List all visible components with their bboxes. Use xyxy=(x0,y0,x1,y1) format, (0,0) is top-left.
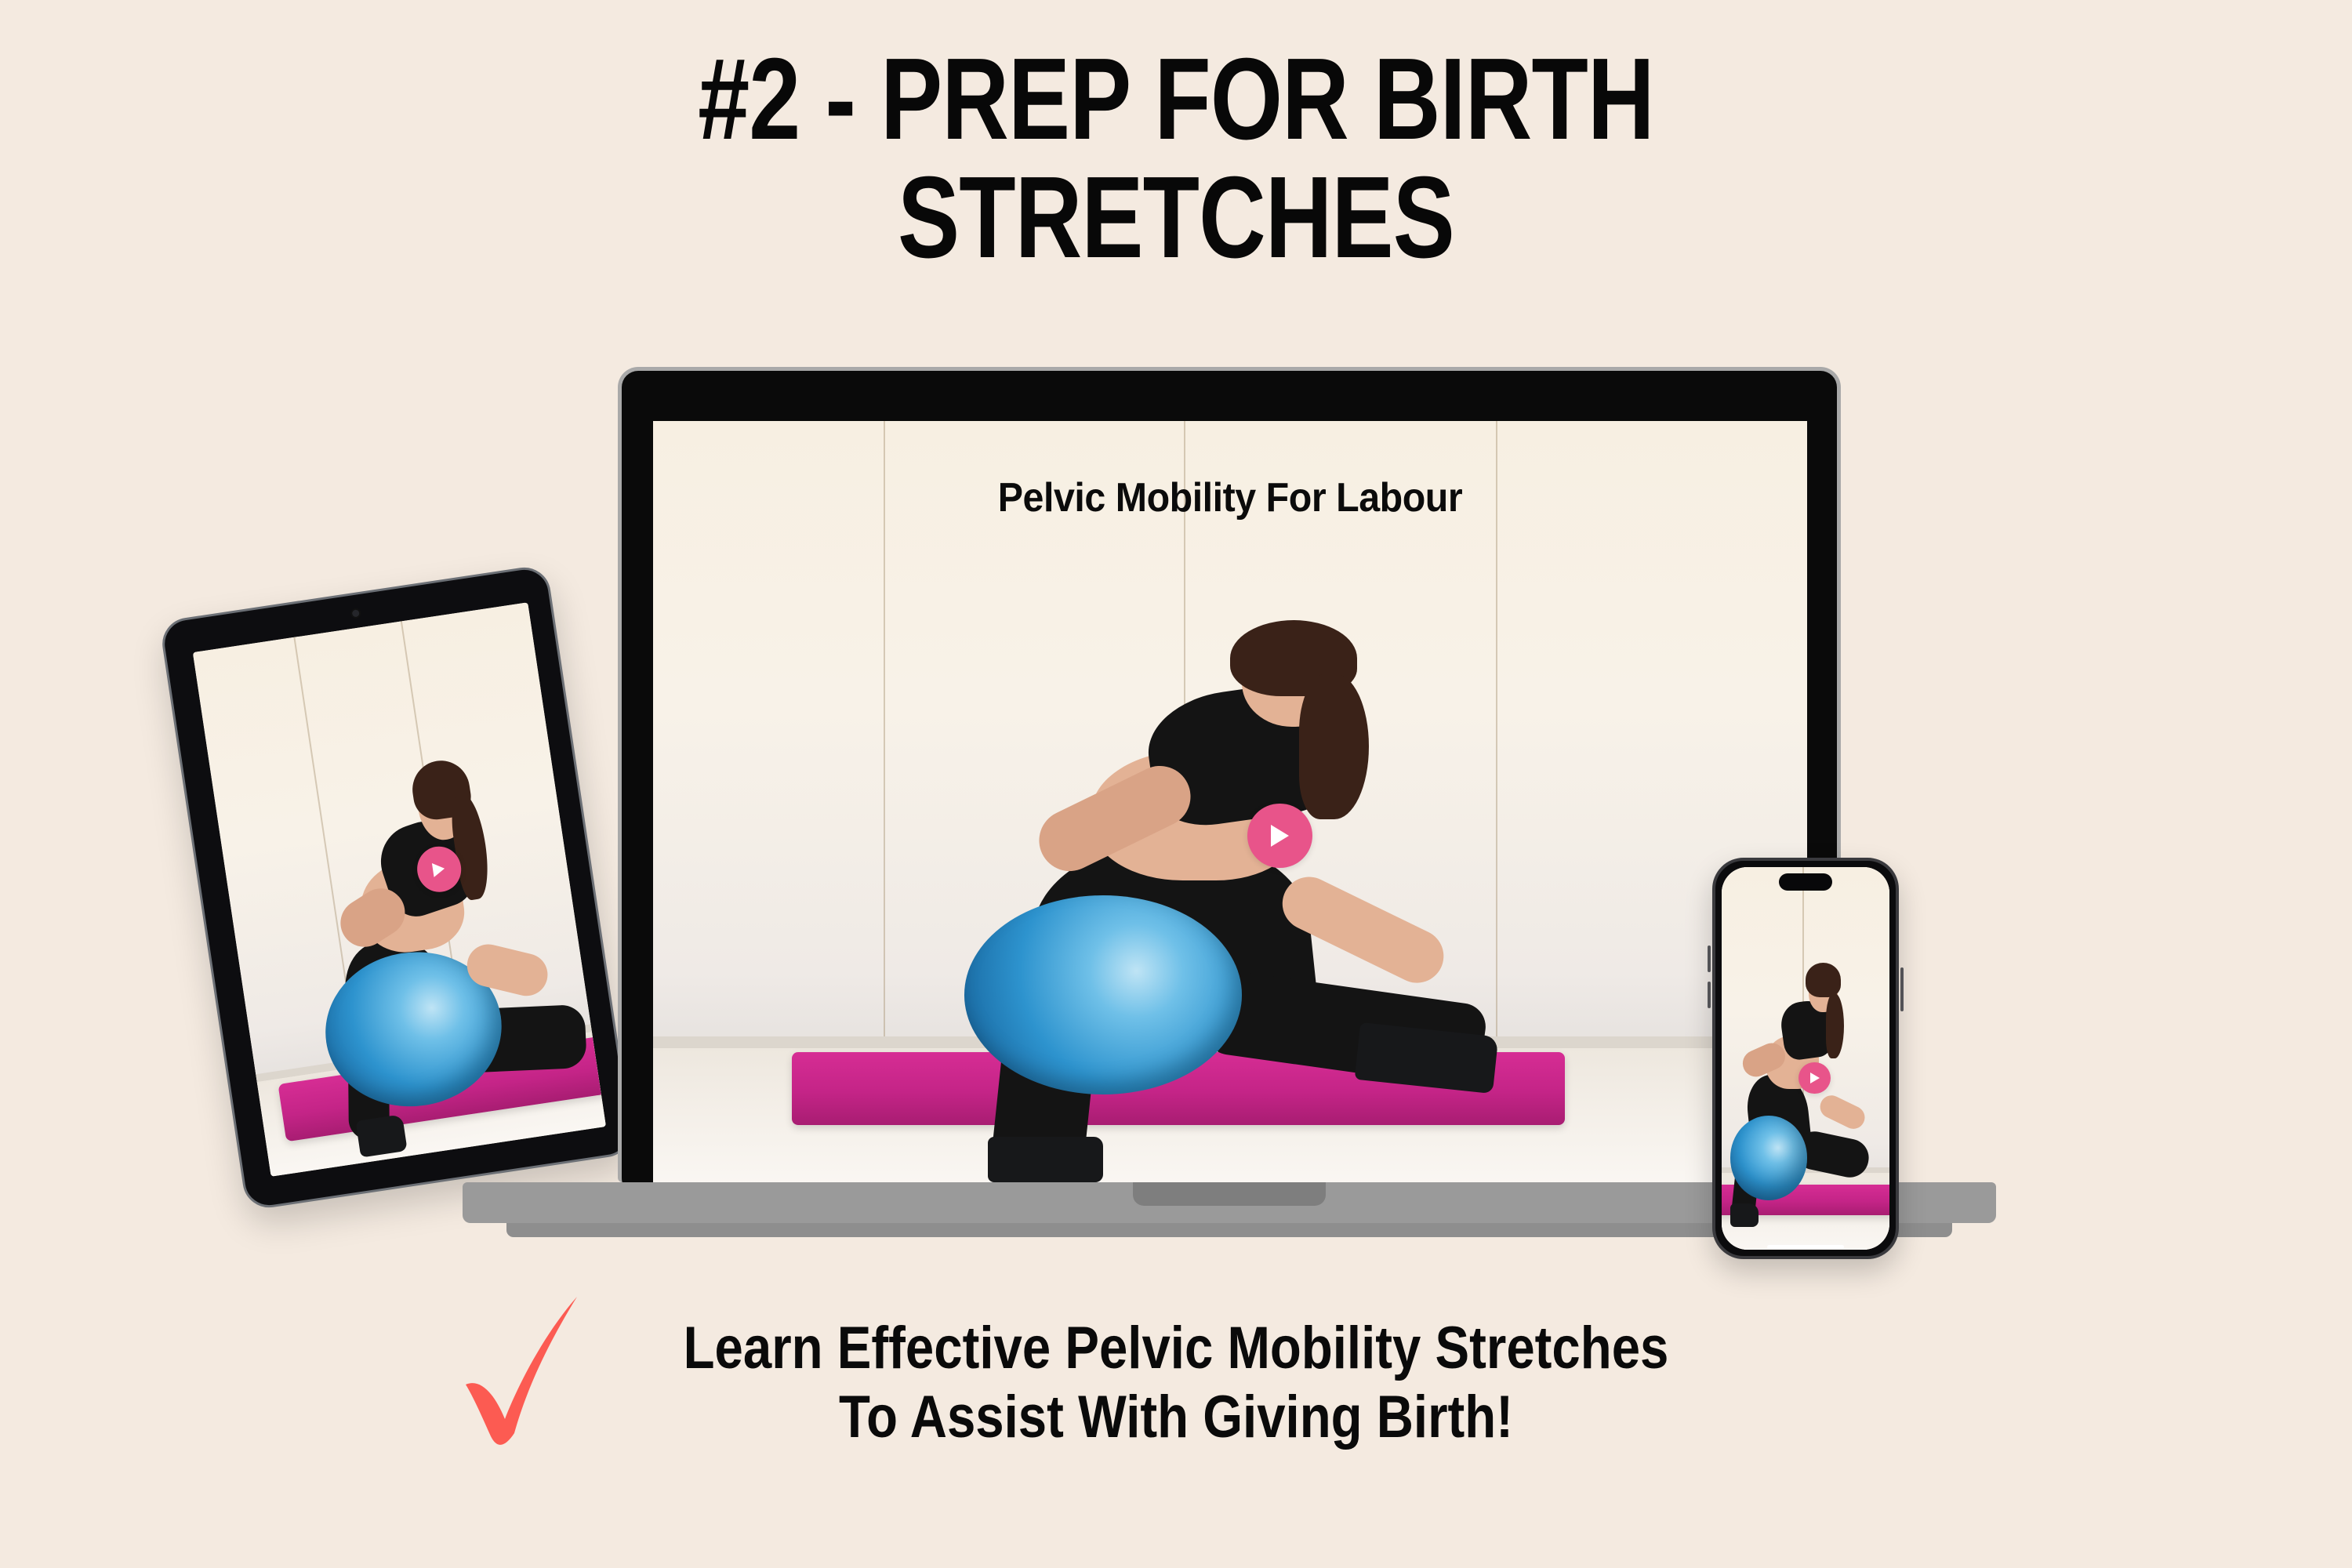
tablet-screen[interactable] xyxy=(193,602,606,1176)
exercise-ball xyxy=(964,895,1241,1094)
laptop-device[interactable]: Pelvic Mobility For Labour xyxy=(618,367,1841,1229)
play-button[interactable] xyxy=(1247,804,1312,868)
poster-canvas: #2 - PREP FOR BIRTH STRETCHES xyxy=(0,0,2352,1568)
phone-volume-up-button[interactable] xyxy=(1708,946,1711,972)
shoe-left xyxy=(988,1137,1103,1182)
phone-home-indicator xyxy=(1767,1245,1844,1249)
play-triangle-icon xyxy=(432,861,445,877)
phone-screen[interactable] xyxy=(1722,867,1889,1250)
video-title: Pelvic Mobility For Labour xyxy=(694,474,1767,521)
laptop-base-notch xyxy=(1133,1182,1326,1206)
hair xyxy=(1806,963,1841,997)
laptop-video-frame: Pelvic Mobility For Labour xyxy=(653,421,1807,1182)
tablet-video-frame xyxy=(193,602,606,1176)
phone-volume-down-button[interactable] xyxy=(1708,982,1711,1008)
tablet-device[interactable] xyxy=(159,564,635,1211)
phone-dynamic-island xyxy=(1779,873,1832,891)
laptop-screen[interactable]: Pelvic Mobility For Labour xyxy=(653,421,1807,1182)
shoe xyxy=(355,1114,408,1158)
phone-body xyxy=(1712,858,1899,1259)
page-title: #2 - PREP FOR BIRTH STRETCHES xyxy=(235,41,2117,278)
ponytail xyxy=(1299,673,1368,818)
laptop-lid: Pelvic Mobility For Labour xyxy=(618,367,1841,1182)
tablet-camera-icon xyxy=(350,608,361,619)
play-triangle-icon xyxy=(1271,825,1289,847)
exercise-ball xyxy=(1730,1116,1807,1200)
tablet-body xyxy=(159,564,635,1211)
phone-video-frame xyxy=(1722,867,1889,1250)
phone-power-button[interactable] xyxy=(1900,967,1904,1011)
subtitle-caption: Learn Effective Pelvic Mobility Stretche… xyxy=(165,1314,2187,1452)
play-triangle-icon xyxy=(1810,1073,1820,1083)
phone-device[interactable] xyxy=(1712,858,1899,1259)
shoe xyxy=(1730,1203,1759,1226)
